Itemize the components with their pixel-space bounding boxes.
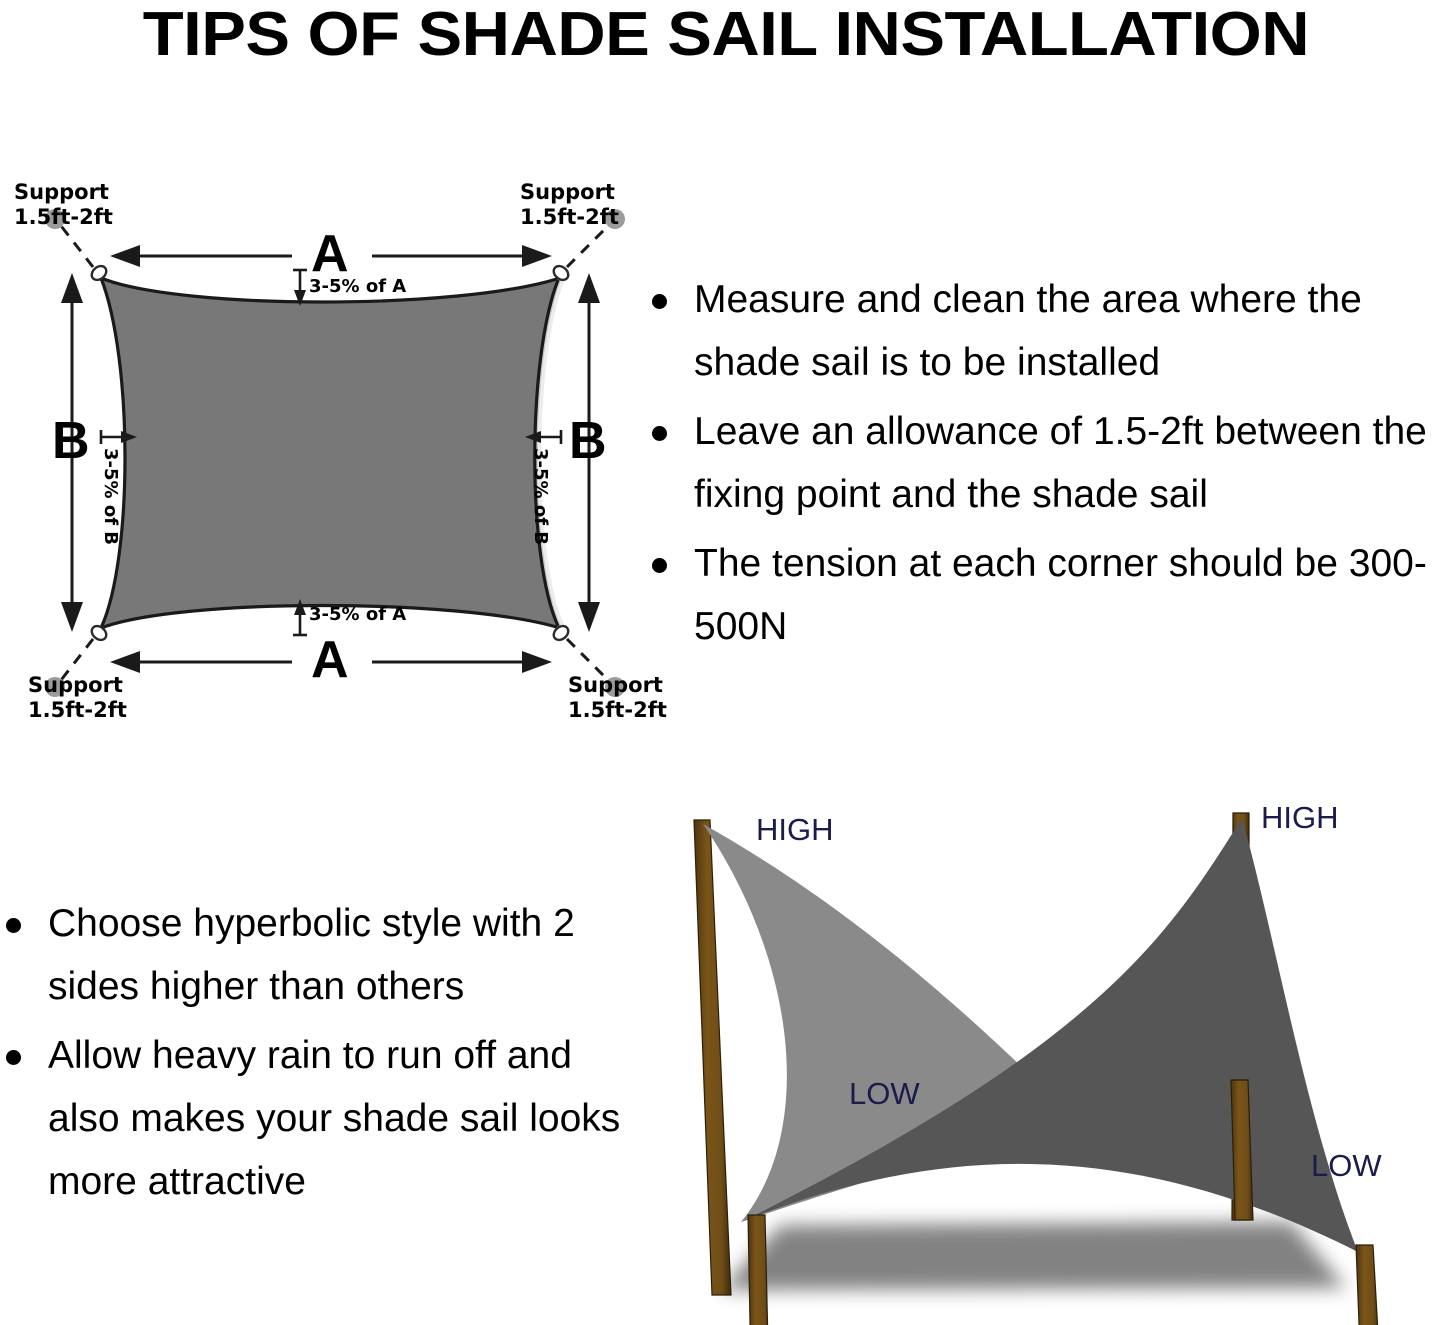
shade-sail-shape — [101, 278, 560, 628]
arrowhead-b-right-top — [578, 273, 600, 303]
dimension-letter-a-top: A — [311, 228, 349, 280]
hyperbolic-sail-illustration: HIGH HIGH LOW LOW — [646, 790, 1452, 1325]
list-item-text: The tension at each corner should be 300… — [694, 542, 1427, 648]
bullet-dot-icon — [6, 1050, 21, 1065]
list-item: Measure and clean the area where the sha… — [646, 268, 1452, 394]
support-label-bottom-right: Support 1.5ft-2ft — [568, 673, 667, 723]
arrowhead-a-bottom-left — [110, 651, 140, 673]
bullet-dot-icon — [652, 558, 667, 573]
bullet-dot-icon — [6, 918, 21, 933]
arrowhead-b-left-top — [61, 273, 83, 303]
arrowhead-b-right-bottom — [578, 602, 600, 632]
arrowhead-b-left-bottom — [61, 602, 83, 632]
list-item: Choose hyperbolic style with 2 sides hig… — [0, 892, 630, 1018]
style-tips-list: Choose hyperbolic style with 2 sides hig… — [0, 892, 630, 1219]
bullet-dot-icon — [652, 294, 667, 309]
arrowhead-a-top-left — [110, 245, 140, 267]
tolerance-label-bottom: 3-5% of A — [309, 606, 406, 624]
label-low-right: LOW — [1311, 1150, 1382, 1181]
support-label-top-right-line2: 1.5ft-2ft — [520, 205, 619, 230]
label-low-left: LOW — [849, 1078, 920, 1109]
page-title: TIPS OF SHADE SAIL INSTALLATION — [143, 4, 1309, 66]
support-label-bottom-right-line1: Support — [568, 673, 663, 697]
dimension-letter-a-bottom: A — [311, 634, 349, 686]
list-item: Allow heavy rain to run off and also mak… — [0, 1024, 630, 1213]
support-label-top-right: Support 1.5ft-2ft — [520, 180, 619, 230]
post-low-left — [748, 1215, 770, 1325]
arrowhead-a-top-right — [522, 245, 552, 267]
list-item-text: Allow heavy rain to run off and also mak… — [48, 1034, 620, 1203]
installation-tips-list: Measure and clean the area where the sha… — [646, 268, 1452, 664]
label-high-left: HIGH — [756, 814, 834, 845]
list-item: The tension at each corner should be 300… — [646, 532, 1452, 658]
title-bar: TIPS OF SHADE SAIL INSTALLATION — [0, 0, 1452, 70]
hyperbolic-sail-svg — [646, 790, 1452, 1325]
support-label-top-left-line2: 1.5ft-2ft — [14, 205, 113, 230]
tolerance-label-right: 3-5% of B — [531, 448, 549, 545]
dimension-letter-b-left: B — [52, 415, 90, 467]
post-high-left — [694, 820, 731, 1295]
list-item: Leave an allowance of 1.5-2ft between th… — [646, 400, 1452, 526]
tolerance-label-left: 3-5% of B — [101, 448, 119, 545]
support-label-bottom-left: Support 1.5ft-2ft — [28, 673, 127, 723]
post-low-right — [1356, 1245, 1379, 1325]
support-label-top-left: Support 1.5ft-2ft — [14, 180, 113, 230]
list-item-text: Choose hyperbolic style with 2 sides hig… — [48, 902, 575, 1008]
arrowhead-a-bottom-right — [522, 651, 552, 673]
bullet-dot-icon — [652, 426, 667, 441]
support-label-top-right-line1: Support — [520, 180, 615, 204]
ground-shadow — [721, 1222, 1346, 1290]
list-item-text: Measure and clean the area where the sha… — [694, 278, 1362, 384]
rectangle-sail-diagram: Support 1.5ft-2ft Support 1.5ft-2ft Supp… — [0, 160, 660, 740]
support-label-top-left-line1: Support — [14, 180, 109, 204]
dimension-letter-b-right: B — [569, 415, 607, 467]
support-label-bottom-right-line2: 1.5ft-2ft — [568, 698, 667, 723]
label-high-right: HIGH — [1261, 802, 1339, 833]
list-item-text: Leave an allowance of 1.5-2ft between th… — [694, 410, 1427, 516]
support-label-bottom-left-line2: 1.5ft-2ft — [28, 698, 127, 723]
tolerance-label-top: 3-5% of A — [309, 278, 406, 296]
support-label-bottom-left-line1: Support — [28, 673, 123, 697]
